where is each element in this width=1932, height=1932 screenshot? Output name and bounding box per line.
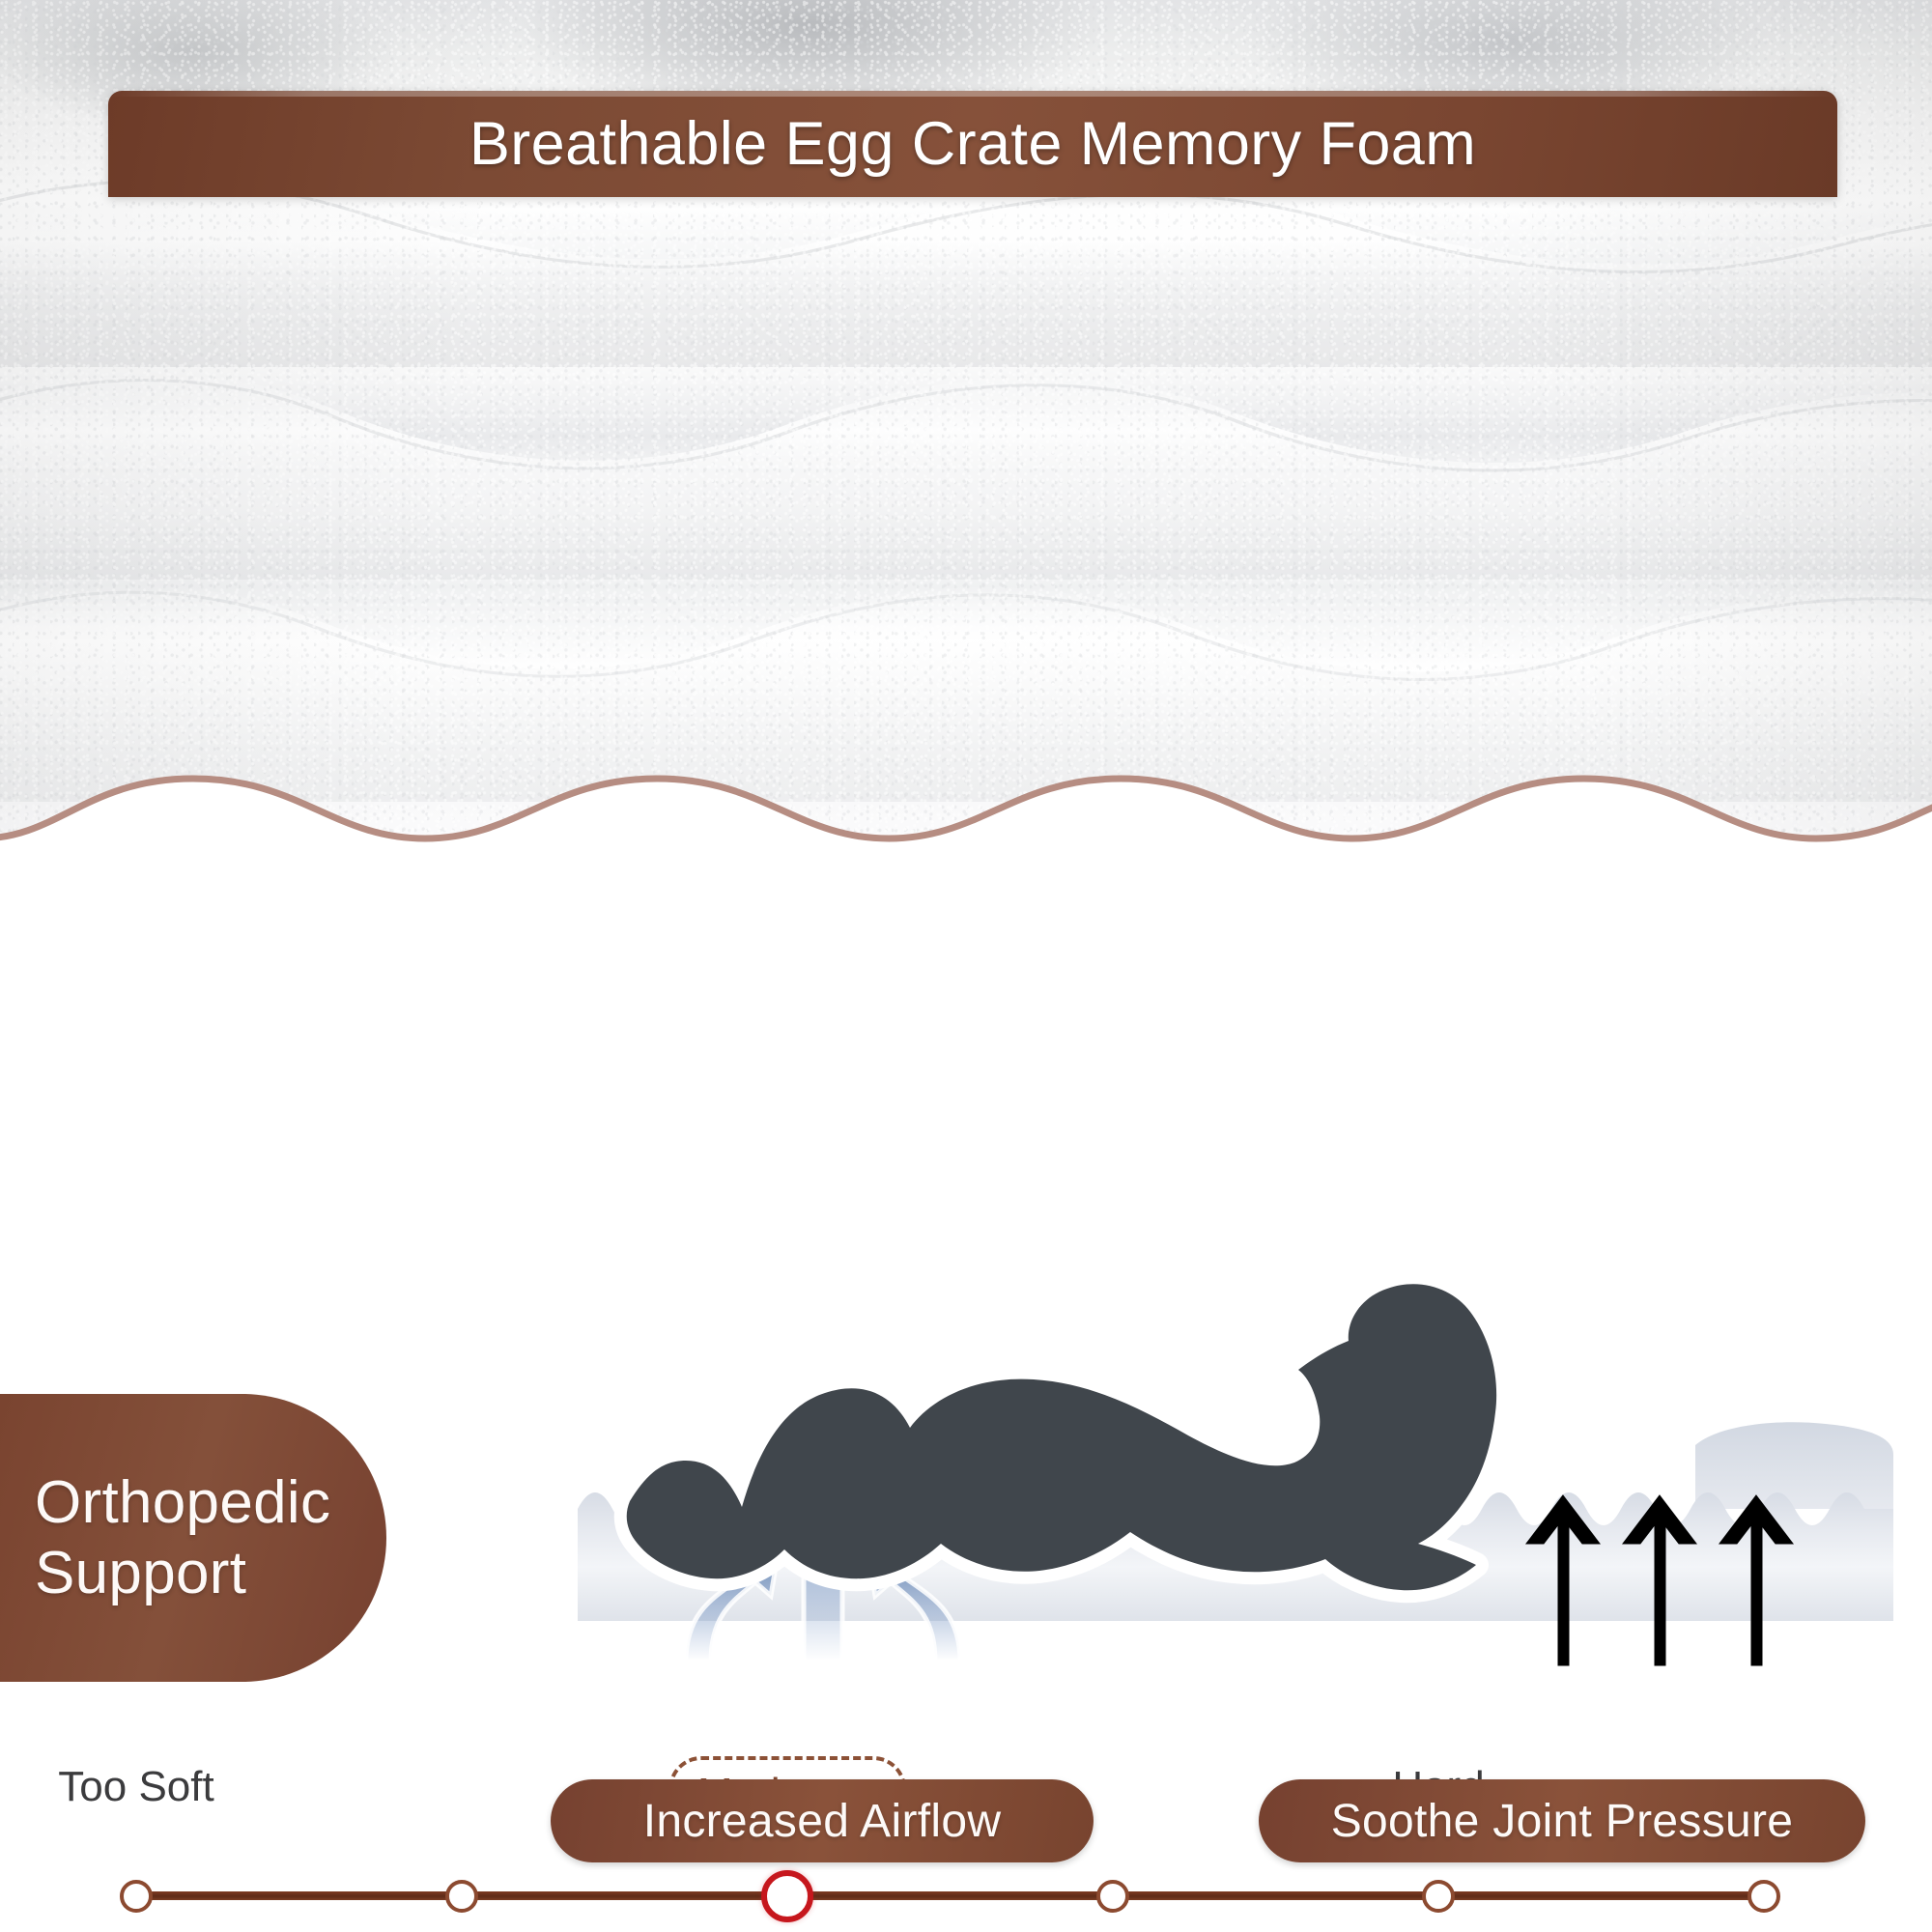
- mattress-bolster: [1695, 1422, 1893, 1509]
- page-title: Breathable Egg Crate Memory Foam: [469, 109, 1476, 179]
- dog-on-mattress-illustration: [541, 1256, 1893, 1662]
- firmness-dot-2[interactable]: [445, 1880, 478, 1913]
- feature-pill-increased-airflow[interactable]: Increased Airflow: [551, 1779, 1094, 1862]
- firmness-track[interactable]: [135, 1891, 1764, 1900]
- orthopedic-badge-line-2: Support: [35, 1538, 386, 1608]
- feature-pill-airflow-label: Increased Airflow: [643, 1795, 1002, 1848]
- feature-pill-joint-label: Soothe Joint Pressure: [1331, 1795, 1794, 1848]
- firmness-label-too-soft: Too Soft: [58, 1763, 213, 1811]
- dog-silhouette-icon: [627, 1284, 1496, 1590]
- title-banner: Breathable Egg Crate Memory Foam: [108, 91, 1837, 197]
- firmness-dot-6[interactable]: [1747, 1880, 1780, 1913]
- firmness-dot-4[interactable]: [1096, 1880, 1129, 1913]
- firmness-scale: Too Soft Moderate Hard Lacking support P…: [0, 869, 1932, 1188]
- orthopedic-badge-line-1: Orthopedic: [35, 1467, 386, 1538]
- upward-pressure-arrow-icon-group: [1526, 1495, 1793, 1665]
- infographic-page: Breathable Egg Crate Memory Foam Too Sof…: [0, 0, 1932, 1932]
- orthopedic-support-badge: Orthopedic Support: [0, 1394, 386, 1682]
- firmness-dot-1[interactable]: [120, 1880, 153, 1913]
- firmness-dot-3-selected[interactable]: [761, 1870, 813, 1922]
- feature-pill-soothe-joint-pressure[interactable]: Soothe Joint Pressure: [1259, 1779, 1865, 1862]
- wave-divider-icon: [0, 730, 1932, 875]
- firmness-dot-5[interactable]: [1422, 1880, 1455, 1913]
